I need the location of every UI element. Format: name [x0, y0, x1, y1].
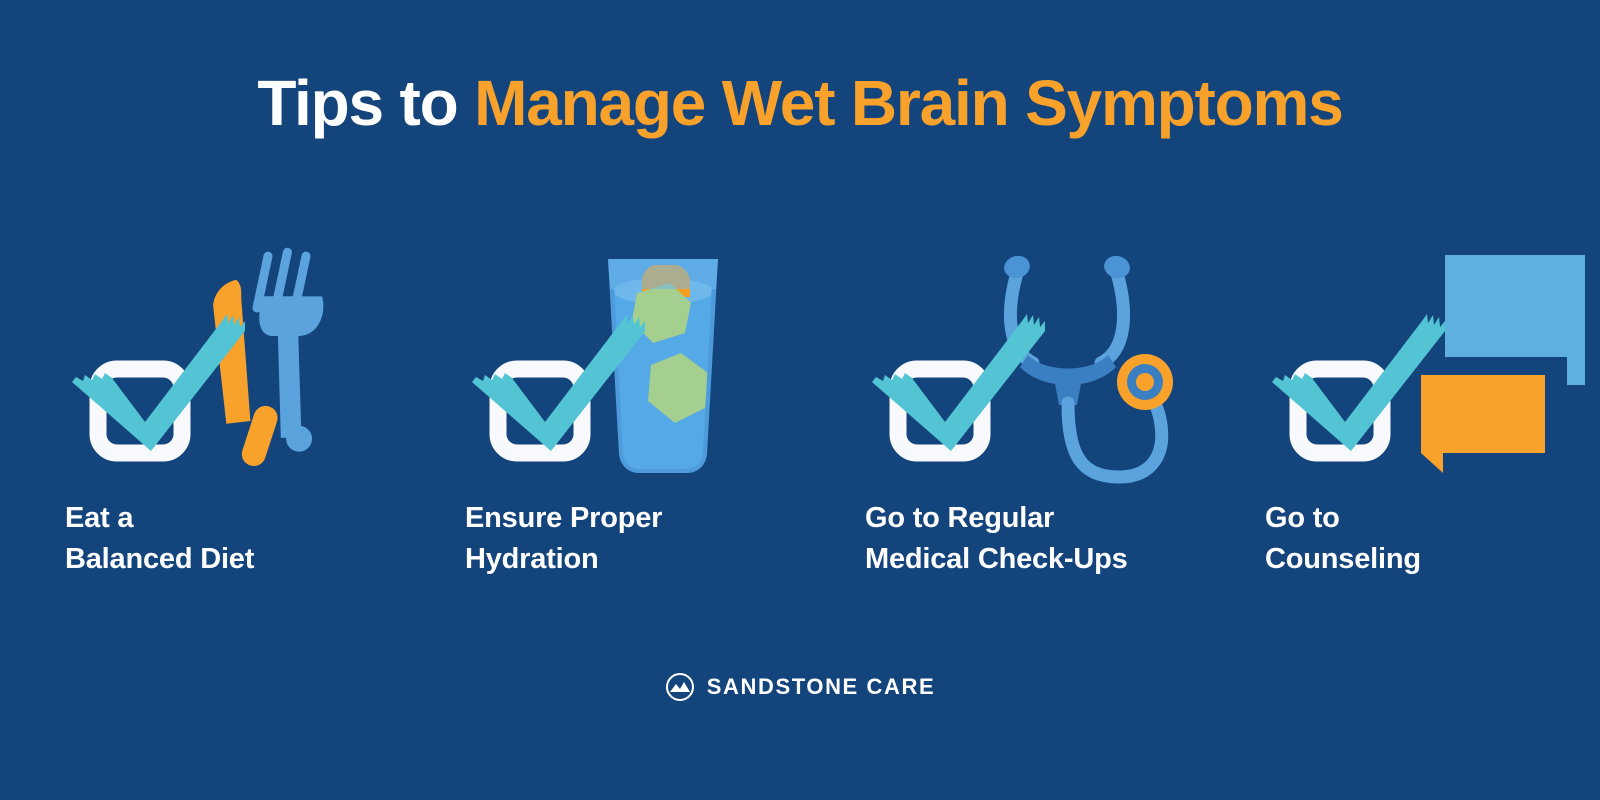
infographic-canvas: Tips to Manage Wet Brain Symptoms	[0, 0, 1600, 800]
page-title-white-part: Tips to	[257, 67, 474, 139]
footer-logo: SANDSTONE CARE	[0, 672, 1600, 702]
page-title-orange-part: Manage Wet Brain Symptoms	[474, 67, 1343, 139]
speech-bubble-orange	[1421, 375, 1545, 473]
stethoscope-chest-piece	[1117, 354, 1173, 410]
ear-tip-left	[1002, 253, 1033, 281]
tip-caption-go-to-counseling: Go to Counseling	[1265, 498, 1421, 580]
fork-shape	[235, 247, 331, 454]
water-glass-checkbox-icon	[465, 245, 795, 475]
tip-caption-eat-balanced-diet: Eat a Balanced Diet	[65, 498, 254, 580]
speech-bubbles-checkbox-icon	[1265, 245, 1595, 475]
speech-bubble-blue	[1445, 255, 1585, 385]
tip-card-go-to-counseling: Go to Counseling	[1200, 245, 1600, 585]
stethoscope-checkbox-icon	[865, 245, 1195, 475]
tip-card-ensure-proper-hydration: Ensure Proper Hydration	[400, 245, 800, 585]
mountain-circle-logo-icon	[665, 672, 695, 702]
tips-row: Eat a Balanced Diet	[0, 245, 1600, 585]
tip-caption-ensure-proper-hydration: Ensure Proper Hydration	[465, 498, 662, 580]
fork-knife-checkbox-icon	[65, 245, 395, 475]
tip-card-go-to-regular-medical-check-ups: Go to Regular Medical Check-Ups	[800, 245, 1200, 585]
glass-rim	[608, 259, 718, 289]
tip-caption-go-to-regular-medical-check-ups: Go to Regular Medical Check-Ups	[865, 498, 1128, 580]
page-title: Tips to Manage Wet Brain Symptoms	[0, 70, 1600, 137]
tip-card-eat-balanced-diet: Eat a Balanced Diet	[0, 245, 400, 585]
ear-tip-right	[1102, 253, 1133, 281]
footer-logo-text: SANDSTONE CARE	[707, 674, 936, 700]
